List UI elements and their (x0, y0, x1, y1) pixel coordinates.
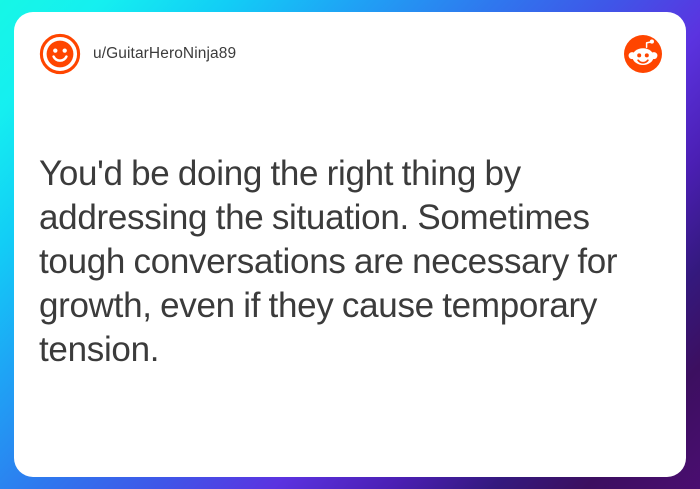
reddit-snoo-logo-icon[interactable] (624, 35, 662, 73)
post-body-text: You'd be doing the right thing by addres… (39, 152, 664, 372)
post-author-name: u/GuitarHeroNinja89 (93, 45, 236, 63)
reddit-post-card: u/GuitarHeroNinja89 (14, 12, 686, 477)
post-header: u/GuitarHeroNinja89 (14, 12, 686, 96)
smiley-face-avatar-icon (39, 33, 81, 75)
screenshot-canvas: u/GuitarHeroNinja89 (0, 0, 700, 489)
post-author-group[interactable]: u/GuitarHeroNinja89 (39, 33, 236, 75)
